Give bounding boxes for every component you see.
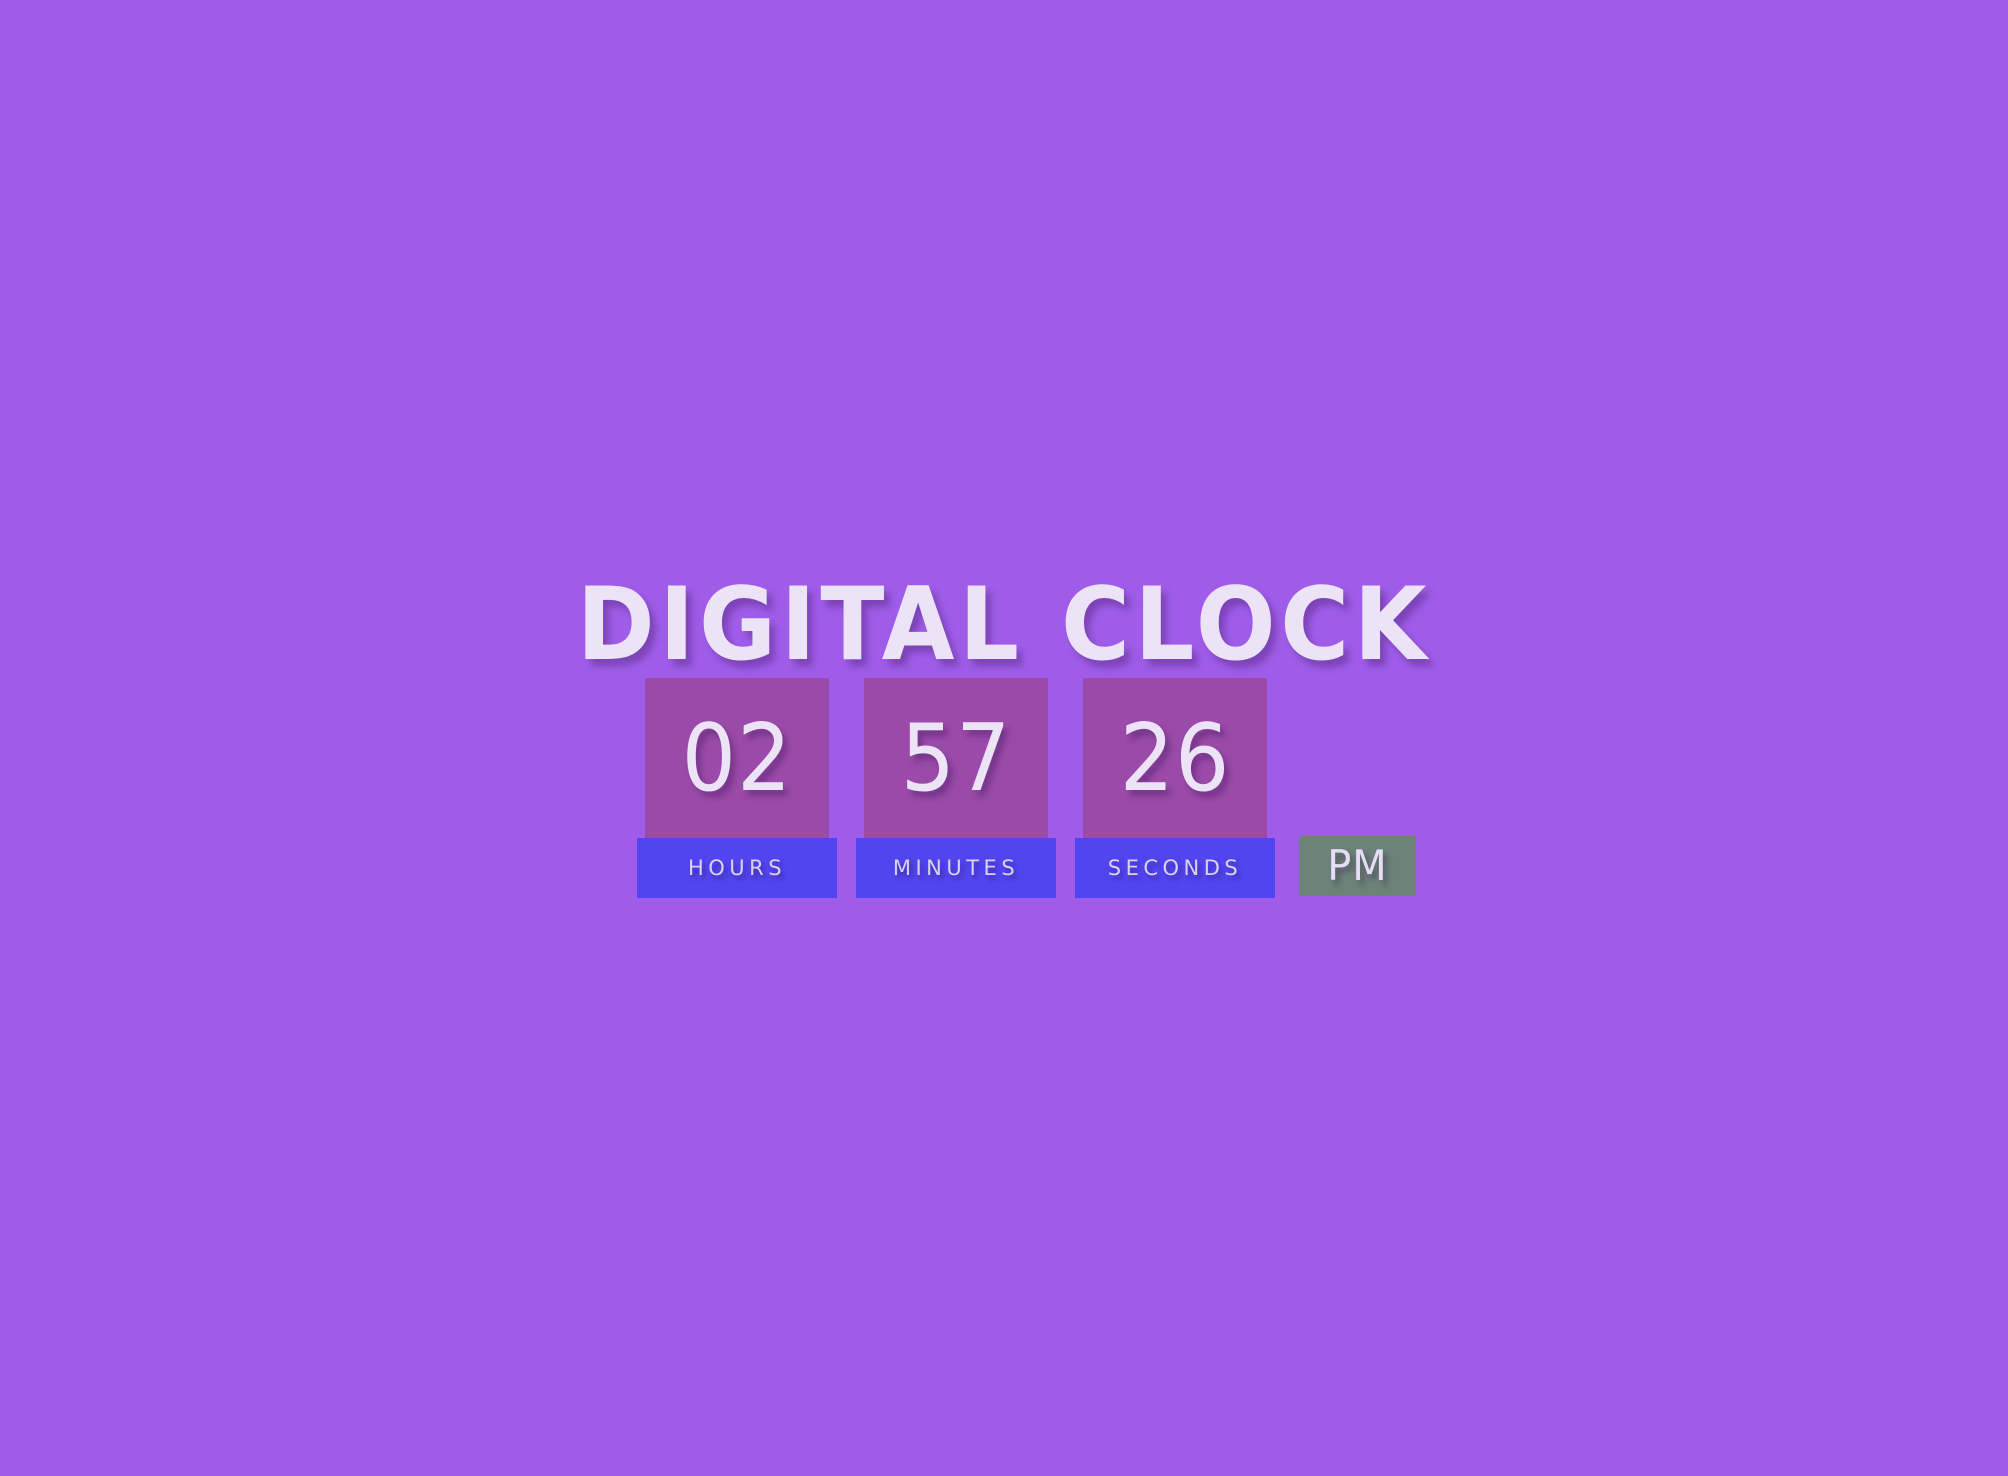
seconds-label: SECONDS bbox=[1075, 838, 1275, 898]
minutes-value: 57 bbox=[864, 678, 1048, 838]
digital-clock-page: DIGITAL CLOCK 02 HOURS 57 MINUTES 26 SEC… bbox=[0, 0, 2008, 1476]
hours-value: 02 bbox=[645, 678, 829, 838]
clock-unit-seconds: 26 SECONDS bbox=[1075, 678, 1275, 898]
clock-display: 02 HOURS 57 MINUTES 26 SECONDS bbox=[637, 678, 1275, 898]
clock-unit-hours: 02 HOURS bbox=[637, 678, 837, 898]
seconds-value: 26 bbox=[1083, 678, 1267, 838]
page-title: DIGITAL CLOCK bbox=[70, 574, 1937, 675]
minutes-label: MINUTES bbox=[856, 838, 1056, 898]
clock-unit-minutes: 57 MINUTES bbox=[856, 678, 1056, 898]
meridiem-badge: PM bbox=[1299, 836, 1416, 896]
hours-label: HOURS bbox=[637, 838, 837, 898]
